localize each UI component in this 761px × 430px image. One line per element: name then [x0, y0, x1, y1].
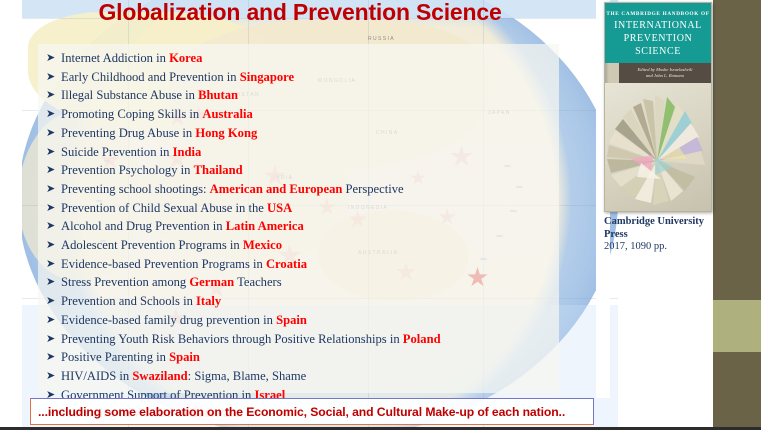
- book-title-line3: SCIENCE: [605, 46, 711, 57]
- list-item-highlight: American and European: [210, 182, 343, 196]
- list-item-highlight: Australia: [202, 107, 252, 121]
- bullet-arrow-icon: ➤: [46, 367, 61, 386]
- list-item-highlight: Thailand: [194, 163, 243, 177]
- bullet-arrow-icon: ➤: [46, 236, 61, 255]
- list-item-suffix: Perspective: [342, 182, 403, 196]
- list-item-prefix: Prevention and Schools in: [61, 294, 196, 308]
- left-margin: [0, 0, 22, 430]
- list-item-prefix: Evidence-based family drug prevention in: [61, 313, 276, 327]
- list-item: ➤Preventing school shootings: American a…: [46, 180, 566, 199]
- map-label-russia: RUSSIA: [368, 36, 395, 42]
- right-olive-column: [713, 0, 761, 430]
- list-item-text: Prevention and Schools in Italy: [61, 292, 221, 311]
- list-item-prefix: Evidence-based Prevention Programs in: [61, 257, 266, 271]
- bullet-arrow-icon: ➤: [46, 161, 61, 180]
- list-item-text: Prevention of Child Sexual Abuse in the …: [61, 199, 292, 218]
- book-editors-line2: and John L. Romano: [646, 73, 684, 80]
- list-item-highlight: India: [173, 145, 202, 159]
- list-item-prefix: Preventing school shootings:: [61, 182, 210, 196]
- list-item-prefix: Internet Addiction in: [61, 51, 169, 65]
- bullet-arrow-icon: ➤: [46, 292, 61, 311]
- list-item: ➤HIV/AIDS in Swaziland: Sigma, Blame, Sh…: [46, 367, 566, 386]
- bottom-banner-text: ...including some elaboration on the Eco…: [31, 405, 565, 419]
- list-item-highlight: Latin America: [226, 219, 304, 233]
- list-item: ➤Prevention Psychology in Thailand: [46, 161, 566, 180]
- list-item-text: Adolescent Prevention Programs in Mexico: [61, 236, 282, 255]
- prevention-topics-list: ➤Internet Addiction in Korea➤Early Child…: [46, 49, 566, 423]
- list-item-text: Promoting Coping Skills in Australia: [61, 105, 253, 124]
- bullet-arrow-icon: ➤: [46, 124, 61, 143]
- list-item: ➤Early Childhood and Prevention in Singa…: [46, 68, 566, 87]
- list-item-suffix: : Sigma, Blame, Shame: [188, 369, 307, 383]
- list-item-prefix: Preventing Drug Abuse in: [61, 126, 195, 140]
- list-item-highlight: Swaziland: [132, 369, 187, 383]
- bullet-arrow-icon: ➤: [46, 143, 61, 162]
- book-art-svg: [605, 83, 711, 211]
- list-item-suffix: Teachers: [234, 275, 281, 289]
- book-title-line2: PREVENTION: [605, 33, 711, 44]
- list-item-text: Evidence-based Prevention Programs in Cr…: [61, 255, 307, 274]
- right-olive-band: [713, 300, 761, 352]
- list-item-highlight: Bhutan: [198, 88, 238, 102]
- list-item-text: Illegal Substance Abuse in Bhutan: [61, 86, 238, 105]
- bullet-arrow-icon: ➤: [46, 86, 61, 105]
- list-item: ➤Prevention and Schools in Italy: [46, 292, 566, 311]
- book-cover: THE CAMBRIDGE HANDBOOK OF INTERNATIONAL …: [604, 2, 712, 212]
- page-title: Globalization and Prevention Science: [0, 0, 600, 26]
- list-item: ➤Promoting Coping Skills in Australia: [46, 105, 566, 124]
- list-item-highlight: German: [189, 275, 234, 289]
- publisher-year-pages: 2017, 1090 pp.: [604, 241, 714, 254]
- list-item-prefix: Promoting Coping Skills in: [61, 107, 202, 121]
- list-item: ➤Prevention of Child Sexual Abuse in the…: [46, 199, 566, 218]
- bullet-arrow-icon: ➤: [46, 49, 61, 68]
- bullet-arrow-icon: ➤: [46, 68, 61, 87]
- list-item: ➤Evidence-based Prevention Programs in C…: [46, 255, 566, 274]
- list-item-highlight: Spain: [276, 313, 307, 327]
- list-item-highlight: Mexico: [243, 238, 282, 252]
- bullet-arrow-icon: ➤: [46, 255, 61, 274]
- list-item: ➤Adolescent Prevention Programs in Mexic…: [46, 236, 566, 255]
- bullet-arrow-icon: ➤: [46, 330, 61, 349]
- list-item: ➤Preventing Drug Abuse in Hong Kong: [46, 124, 566, 143]
- bullet-arrow-icon: ➤: [46, 105, 61, 124]
- list-item-highlight: Spain: [169, 350, 200, 364]
- bullet-arrow-icon: ➤: [46, 199, 61, 218]
- book-kicker: THE CAMBRIDGE HANDBOOK OF: [605, 11, 711, 17]
- book-cover-artwork: [605, 83, 711, 211]
- publisher-name-line2: Press: [604, 229, 714, 242]
- list-item-prefix: Preventing Youth Risk Behaviors through …: [61, 332, 403, 346]
- list-item: ➤Internet Addiction in Korea: [46, 49, 566, 68]
- list-item-highlight: Korea: [169, 51, 202, 65]
- slide-canvas: RUSSIA CHINA INDIA AUSTRALIA INDONESIA M…: [0, 0, 761, 430]
- list-item-highlight: USA: [267, 201, 292, 215]
- list-item-text: Preventing Drug Abuse in Hong Kong: [61, 124, 257, 143]
- list-item: ➤Illegal Substance Abuse in Bhutan: [46, 86, 566, 105]
- list-item-prefix: Positive Parenting in: [61, 350, 169, 364]
- bottom-banner: ...including some elaboration on the Eco…: [30, 398, 594, 425]
- list-item-text: Stress Prevention among German Teachers: [61, 273, 282, 292]
- list-item-highlight: Hong Kong: [195, 126, 257, 140]
- list-item-prefix: Adolescent Prevention Programs in: [61, 238, 243, 252]
- list-item: ➤Stress Prevention among German Teachers: [46, 273, 566, 292]
- bullet-arrow-icon: ➤: [46, 180, 61, 199]
- list-item-highlight: Poland: [403, 332, 441, 346]
- bullet-arrow-icon: ➤: [46, 348, 61, 367]
- list-item-highlight: Singapore: [240, 70, 294, 84]
- list-item-highlight: Croatia: [266, 257, 307, 271]
- list-item-prefix: Prevention Psychology in: [61, 163, 194, 177]
- book-editors-band: Edited by Moshe Israelashvili and John L…: [619, 63, 711, 83]
- list-item-prefix: HIV/AIDS in: [61, 369, 132, 383]
- book-cover-title-band: THE CAMBRIDGE HANDBOOK OF INTERNATIONAL …: [605, 3, 711, 63]
- list-item: ➤Positive Parenting in Spain: [46, 348, 566, 367]
- list-item-prefix: Stress Prevention among: [61, 275, 189, 289]
- list-item-text: Preventing Youth Risk Behaviors through …: [61, 330, 441, 349]
- list-item: ➤Preventing Youth Risk Behaviors through…: [46, 330, 566, 349]
- publisher-name-line1: Cambridge University: [604, 216, 714, 229]
- list-item-text: Preventing school shootings: American an…: [61, 180, 404, 199]
- list-item-text: Suicide Prevention in India: [61, 143, 201, 162]
- list-item-text: Prevention Psychology in Thailand: [61, 161, 243, 180]
- list-item: ➤Alcohol and Drug Prevention in Latin Am…: [46, 217, 566, 236]
- list-item-text: HIV/AIDS in Swaziland: Sigma, Blame, Sha…: [61, 367, 306, 386]
- bullet-arrow-icon: ➤: [46, 273, 61, 292]
- list-item-prefix: Suicide Prevention in: [61, 145, 173, 159]
- list-item-prefix: Early Childhood and Prevention in: [61, 70, 240, 84]
- list-item-text: Evidence-based family drug prevention in…: [61, 311, 307, 330]
- list-item-highlight: Italy: [196, 294, 221, 308]
- bullet-arrow-icon: ➤: [46, 311, 61, 330]
- publisher-caption: Cambridge University Press 2017, 1090 pp…: [604, 216, 714, 254]
- list-item-prefix: Alcohol and Drug Prevention in: [61, 219, 226, 233]
- list-item: ➤Suicide Prevention in India: [46, 143, 566, 162]
- list-item-text: Positive Parenting in Spain: [61, 348, 200, 367]
- list-item: ➤Evidence-based family drug prevention i…: [46, 311, 566, 330]
- book-title-line1: INTERNATIONAL: [605, 20, 711, 31]
- list-item-text: Alcohol and Drug Prevention in Latin Ame…: [61, 217, 304, 236]
- list-item-prefix: Illegal Substance Abuse in: [61, 88, 198, 102]
- list-item-text: Early Childhood and Prevention in Singap…: [61, 68, 294, 87]
- list-item-text: Internet Addiction in Korea: [61, 49, 202, 68]
- bullet-arrow-icon: ➤: [46, 217, 61, 236]
- list-item-prefix: Prevention of Child Sexual Abuse in the: [61, 201, 267, 215]
